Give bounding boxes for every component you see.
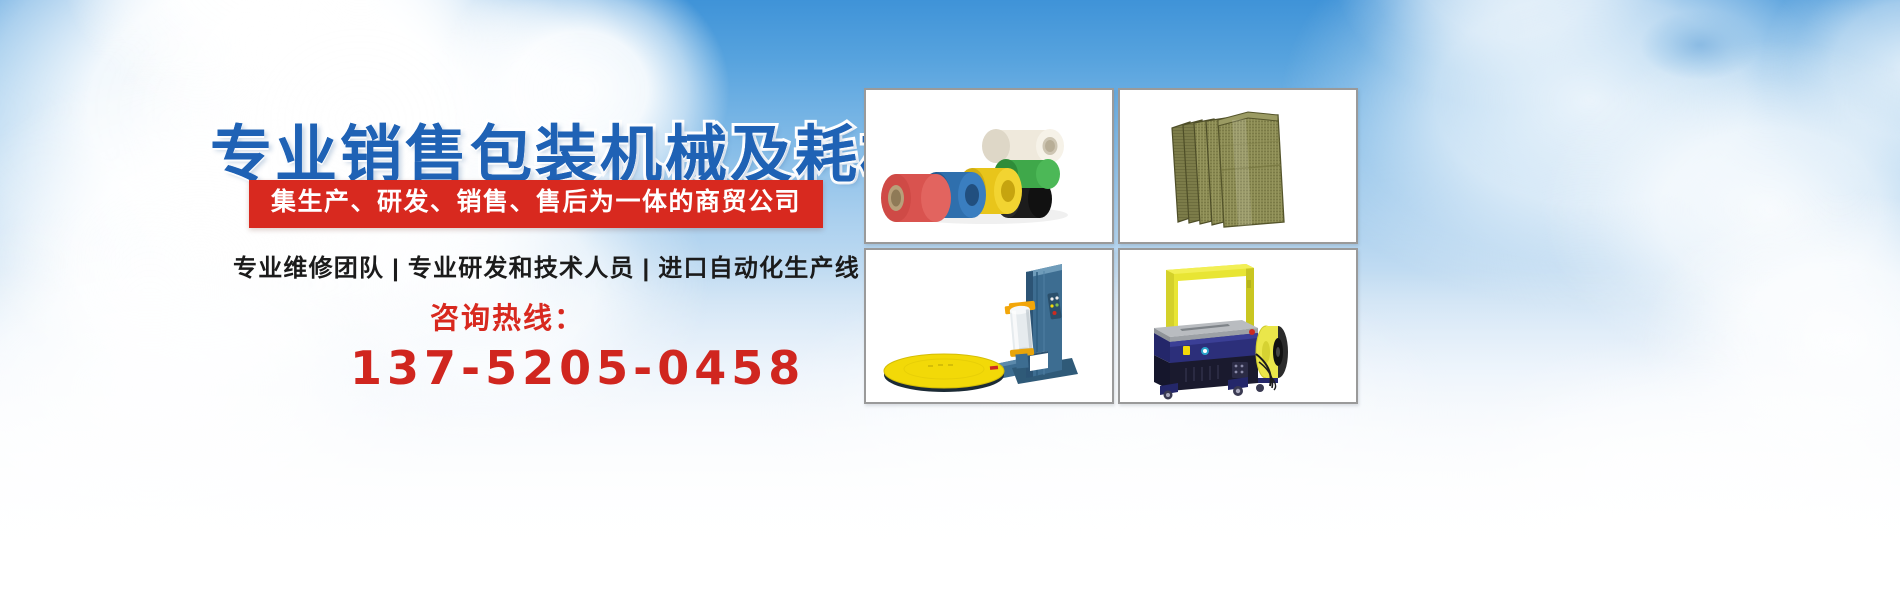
phone-number[interactable]: 137-5205-0458 bbox=[350, 341, 805, 395]
stretch-wrapping-machine-icon bbox=[866, 250, 1112, 402]
hotline-label: 咨询热线： bbox=[430, 295, 585, 337]
promo-banner: 专业销售包装机械及耗材 专业销售包装机械及耗材 集生产、研发、销售、售后为一体的… bbox=[0, 0, 1900, 600]
strapping-tape-rolls-icon bbox=[866, 90, 1112, 242]
woven-sacks-icon bbox=[1120, 90, 1356, 242]
tagline-ribbon: 集生产、研发、销售、售后为一体的商贸公司 bbox=[249, 180, 823, 228]
automatic-strapping-machine-icon bbox=[1120, 250, 1356, 402]
product-image-stretch-wrapper[interactable] bbox=[864, 248, 1114, 404]
product-image-strapping-machine[interactable] bbox=[1118, 248, 1358, 404]
cloud-gap bbox=[1640, 10, 1760, 80]
tagline-text: 集生产、研发、销售、售后为一体的商贸公司 bbox=[271, 189, 801, 217]
product-image-strapping-tape[interactable] bbox=[864, 88, 1114, 244]
product-image-woven-sacks[interactable] bbox=[1118, 88, 1358, 244]
feature-list-text: 专业维修团队 | 专业研发和技术人员 | 进口自动化生产线 bbox=[233, 248, 860, 283]
